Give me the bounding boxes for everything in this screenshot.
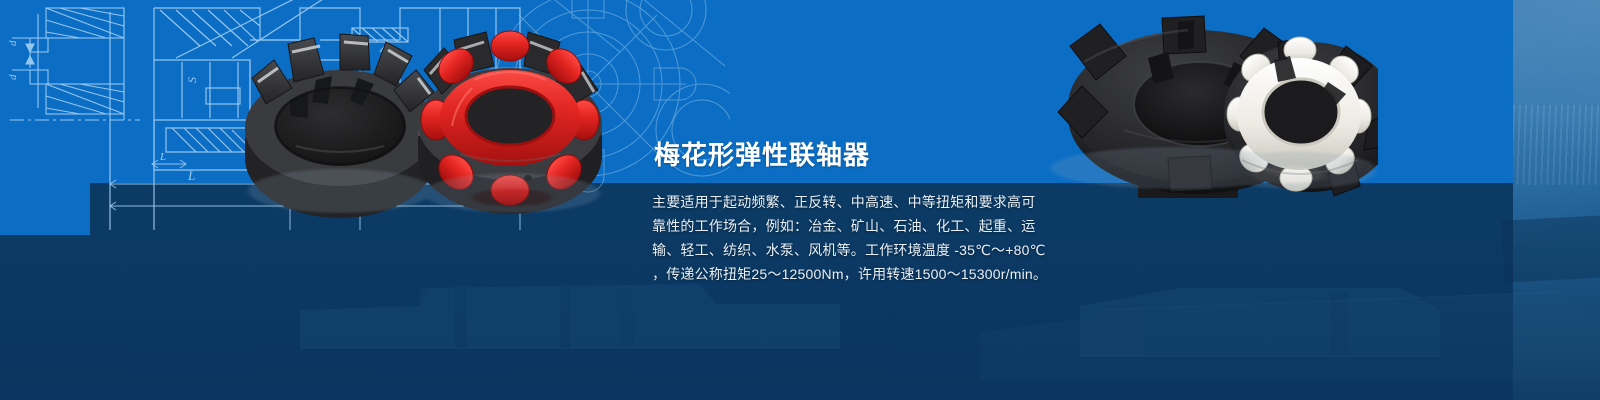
description-line-1: 主要适用于起动频繁、正反转、中高速、中等扭矩和要求高可 [652, 190, 1052, 214]
description-line-2: 靠性的工作场合，例如：冶金、矿山、石油、化工、起重、运 [652, 214, 1052, 238]
page-title: 梅花形弹性联轴器 [654, 140, 870, 170]
svg-text:d: d [7, 74, 19, 80]
description-line-3: 输、轻工、纺织、水泵、风机等。工作环境温度 -35℃～+80℃ [652, 238, 1052, 262]
svg-text:d: d [7, 40, 19, 46]
product-description: 主要适用于起动频繁、正反转、中高速、中等扭矩和要求高可 靠性的工作场合，例如：冶… [652, 190, 1052, 286]
product-banner: d d [0, 0, 1600, 400]
product-reflection-left [240, 132, 605, 215]
svg-text:L: L [187, 168, 195, 183]
description-line-4: ，传递公称扭矩25～12500Nm，许用转速1500～15300r/min。 [652, 262, 1052, 286]
background-machinery-silhouettes [0, 270, 1600, 400]
svg-text:S: S [185, 77, 199, 83]
svg-text:L: L [159, 151, 166, 163]
product-reflection-right [1035, 119, 1375, 191]
